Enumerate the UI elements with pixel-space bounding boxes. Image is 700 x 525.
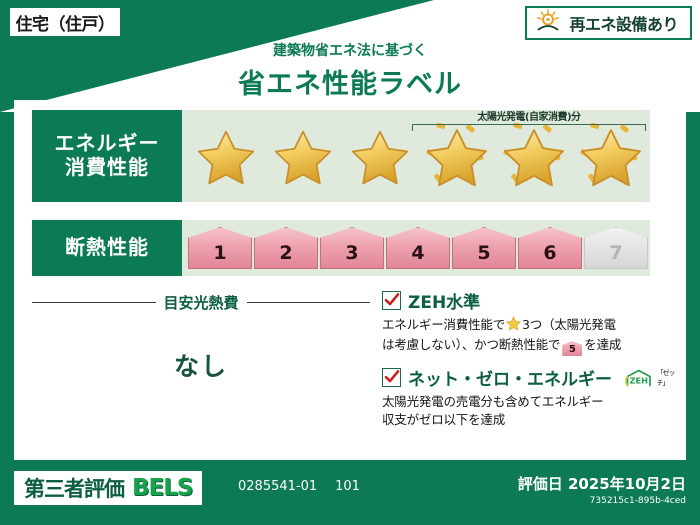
utility-cost-value: なし — [32, 347, 370, 383]
zeh-logo-icon: ZEH — [623, 366, 655, 390]
energy-performance-row: エネルギー 消費性能 太陽光発電(自家消費)分 — [32, 110, 650, 202]
solar-annotation-bracket — [412, 124, 646, 131]
certification-zeh-standard: ZEH水準 エネルギー消費性能で3つ（太陽光発電は考慮しない）、かつ断熱性能で5… — [382, 288, 668, 356]
certification-net-zero-body: 太陽光発電の売電分も含めてエネルギー収支がゼロ以下を達成 — [382, 393, 668, 429]
utility-cost-block: 目安光熱費 なし — [32, 286, 370, 446]
insulation-grade-4: 4 — [386, 227, 450, 269]
insulation-grade-5: 5 — [452, 227, 516, 269]
insulation-grade-1: 1 — [188, 227, 252, 269]
title-subtitle: 建築物省エネ法に基づく — [0, 40, 700, 60]
energy-performance-label-line1: エネルギー — [55, 132, 160, 156]
certification-net-zero-energy: ネット・ゼロ・エネルギー ZEH 「ゼッチ」 太陽光発電の売電分も含めてエネルギ… — [382, 365, 668, 429]
evaluation-date-block: 評価日 2025年10月2日 735215c1-895b-4ced — [518, 473, 686, 506]
document-uid: 735215c1-895b-4ced — [518, 496, 686, 506]
certification-zeh-standard-header: ZEH水準 — [382, 288, 668, 313]
evaluation-date-value: 2025年10月2日 — [568, 475, 686, 493]
certification-net-zero-title: ネット・ゼロ・エネルギー — [408, 365, 612, 390]
title-block: 建築物省エネ法に基づく 省エネ性能ラベル — [0, 40, 700, 101]
zeh-body-star-count: 3つ（太陽光発電 — [522, 317, 616, 332]
star-glyph — [272, 125, 334, 187]
solar-sun-icon — [535, 9, 561, 37]
zeh-body-text-1: エネルギー消費性能で — [382, 317, 505, 332]
star-glyph — [578, 123, 644, 189]
energy-performance-field: 太陽光発電(自家消費)分 — [182, 110, 650, 202]
star-1 — [188, 110, 263, 202]
bels-number-suffix: 101 — [335, 479, 360, 494]
insulation-performance-field: 1234567 — [182, 220, 650, 276]
checkbox-zeh-standard[interactable] — [382, 291, 401, 310]
dwelling-type-tag: 住宅（住戸） — [8, 6, 122, 38]
zeh-house-logo: ZEH 「ゼッチ」 — [623, 366, 679, 390]
star-glyph — [349, 125, 411, 187]
certification-net-zero-header: ネット・ゼロ・エネルギー ZEH 「ゼッチ」 — [382, 365, 668, 390]
checkbox-net-zero-energy[interactable] — [382, 368, 401, 387]
energy-performance-label-line2: 消費性能 — [65, 156, 149, 180]
renewable-energy-label: 再エネ設備あり — [569, 11, 678, 35]
utility-cost-rule-left — [32, 302, 156, 303]
insulation-performance-row: 断熱性能 1234567 — [32, 220, 650, 276]
solar-annotation: 太陽光発電(自家消費)分 — [412, 112, 646, 131]
zeh-body-text-3: を達成 — [584, 337, 621, 352]
insulation-grade-7: 7 — [584, 227, 648, 269]
star-2 — [265, 110, 340, 202]
insulation-grade-scale: 1234567 — [188, 220, 648, 276]
lower-section: 目安光熱費 なし ZEH水準 — [32, 286, 668, 446]
inline-grade-badge: 5 — [562, 341, 582, 356]
utility-cost-rule-right — [247, 302, 371, 303]
body-panel: エネルギー 消費性能 太陽光発電(自家消費)分 断熱性能 1234567 — [14, 100, 686, 460]
title-main: 省エネ性能ラベル — [0, 62, 700, 101]
star-glyph — [195, 125, 257, 187]
insulation-performance-label-text: 断熱性能 — [65, 236, 149, 260]
bels-number: 0285541-01 — [238, 479, 317, 494]
net-zero-body-line1: 太陽光発電の売電分も含めてエネルギー — [382, 394, 603, 409]
zeh-logo-ruby: 「ゼッチ」 — [657, 368, 680, 390]
evaluation-date-label: 評価日 — [518, 475, 563, 493]
certifications-block: ZEH水準 エネルギー消費性能で3つ（太陽光発電は考慮しない）、かつ断熱性能で5… — [370, 286, 668, 446]
footer-bar: 第三者評価 BELS 0285541-01101 評価日 2025年10月2日 … — [0, 463, 700, 525]
star-glyph — [501, 123, 567, 189]
certification-zeh-standard-title: ZEH水準 — [408, 288, 480, 313]
svg-text:ZEH: ZEH — [629, 375, 648, 385]
check-icon — [384, 369, 400, 385]
certification-zeh-standard-body: エネルギー消費性能で3つ（太陽光発電は考慮しない）、かつ断熱性能で5を達成 — [382, 316, 668, 356]
insulation-performance-label: 断熱性能 — [32, 220, 182, 276]
renewable-energy-badge: 再エネ設備あり — [525, 6, 692, 40]
check-icon — [384, 292, 400, 308]
bels-third-party-label: 第三者評価 — [24, 473, 124, 503]
net-zero-body-line2: 収支がゼロ以下を達成 — [382, 412, 505, 427]
utility-cost-heading: 目安光熱費 — [32, 292, 370, 313]
bels-logo-box: 第三者評価 BELS — [14, 471, 202, 505]
bels-logo-text: BELS — [132, 475, 192, 501]
evaluation-date: 評価日 2025年10月2日 — [518, 473, 686, 494]
zeh-body-text-2: は考慮しない）、かつ断熱性能で — [382, 337, 560, 352]
star-glyph — [424, 123, 490, 189]
inline-star-icon — [506, 319, 521, 334]
insulation-grade-2: 2 — [254, 227, 318, 269]
utility-cost-heading-text: 目安光熱費 — [164, 292, 239, 313]
energy-performance-label: エネルギー 消費性能 — [32, 110, 182, 202]
star-3 — [342, 110, 417, 202]
insulation-grade-6: 6 — [518, 227, 582, 269]
dwelling-type-label: 住宅（住戸） — [16, 10, 115, 35]
solar-annotation-caption: 太陽光発電(自家消費)分 — [412, 112, 646, 123]
bels-certificate-number: 0285541-01101 — [238, 479, 360, 494]
energy-label-root: 住宅（住戸） 再エネ設備あり 建築物省エネ法に基づく 省エネ性能ラベル — [0, 0, 700, 525]
insulation-grade-3: 3 — [320, 227, 384, 269]
